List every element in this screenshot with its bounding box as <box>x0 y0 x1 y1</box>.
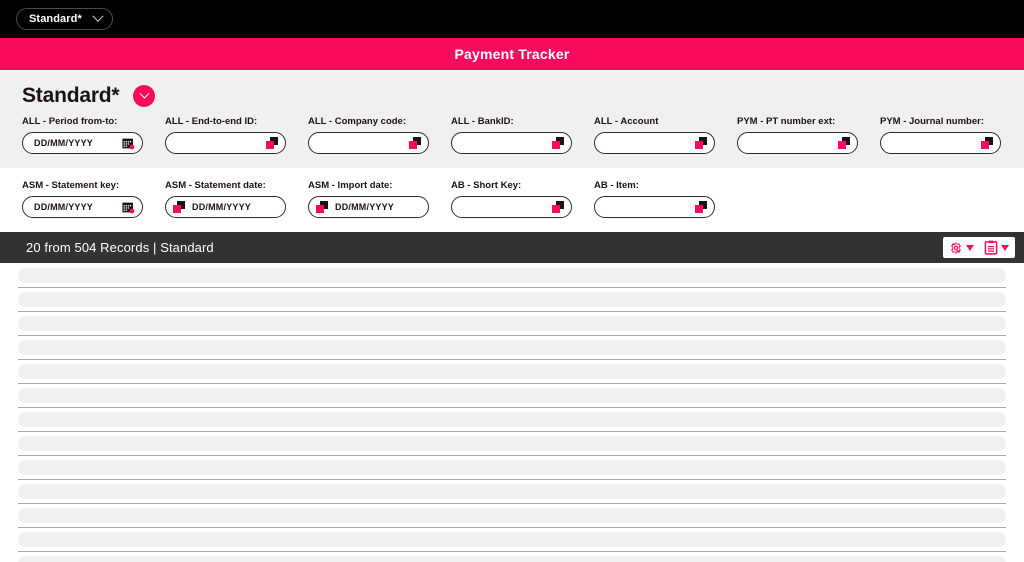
field-input-ab-item[interactable] <box>594 196 715 218</box>
field-label: AB - Item: <box>594 180 737 191</box>
filter-field-pym-journal-number: PYM - Journal number: <box>880 116 1023 154</box>
field-input-asm-import-date[interactable]: DD/MM/YYYY <box>308 196 429 218</box>
field-label: PYM - Journal number: <box>880 116 1023 127</box>
table-row-separator <box>18 503 1006 504</box>
table-row-placeholder <box>18 340 1006 355</box>
value-help-icon[interactable] <box>409 137 421 149</box>
filter-row: ASM - Statement key:DD/MM/YYYYASM - Stat… <box>0 168 1024 232</box>
filter-rows: ALL - Period from-to:DD/MM/YYYYALL - End… <box>0 114 1024 232</box>
value-help-icon[interactable] <box>173 201 185 213</box>
table-row-placeholder <box>18 508 1006 523</box>
filter-field-pym-pt-number-ext: PYM - PT number ext: <box>737 116 880 154</box>
results-table-rows <box>0 268 1024 562</box>
field-input-all-period-from-to[interactable]: DD/MM/YYYY <box>22 132 143 154</box>
table-row[interactable] <box>0 388 1024 403</box>
table-row[interactable] <box>0 460 1024 475</box>
field-input-pym-pt-number-ext[interactable] <box>737 132 858 154</box>
table-row-separator <box>18 431 1006 432</box>
value-help-icon[interactable] <box>695 137 707 149</box>
settings-button[interactable] <box>947 240 976 256</box>
table-row-separator <box>18 311 1006 312</box>
field-input-all-company-code[interactable] <box>308 132 429 154</box>
table-row[interactable] <box>0 508 1024 523</box>
table-row[interactable] <box>0 532 1024 547</box>
filter-panel-header: Standard* <box>0 70 1024 114</box>
value-help-icon[interactable] <box>695 201 707 213</box>
filter-field-all-bankid: ALL - BankID: <box>451 116 594 154</box>
field-label: ALL - Period from-to: <box>22 116 165 127</box>
field-label: ASM - Statement key: <box>22 180 165 191</box>
filter-field-all-account: ALL - Account <box>594 116 737 154</box>
table-row[interactable] <box>0 292 1024 307</box>
field-label: ASM - Statement date: <box>165 180 308 191</box>
table-row[interactable] <box>0 436 1024 451</box>
chevron-down-icon <box>966 245 974 251</box>
field-input-asm-statement-key[interactable]: DD/MM/YYYY <box>22 196 143 218</box>
field-value: DD/MM/YYYY <box>335 202 420 212</box>
field-value: DD/MM/YYYY <box>192 202 277 212</box>
value-help-icon[interactable] <box>981 137 993 149</box>
filter-expand-button[interactable] <box>133 85 155 107</box>
table-row-separator <box>18 407 1006 408</box>
page-title: Payment Tracker <box>454 46 569 62</box>
field-input-ab-short-key[interactable] <box>451 196 572 218</box>
table-row-placeholder <box>18 460 1006 475</box>
field-label: AB - Short Key: <box>451 180 594 191</box>
table-row-placeholder <box>18 364 1006 379</box>
table-row-separator <box>18 479 1006 480</box>
filter-field-asm-statement-date: ASM - Statement date:DD/MM/YYYY <box>165 180 308 218</box>
filter-field-ab-short-key: AB - Short Key: <box>451 180 594 218</box>
chevron-down-icon <box>92 11 103 22</box>
table-row-separator <box>18 335 1006 336</box>
table-row[interactable] <box>0 316 1024 331</box>
filter-field-all-period-from-to: ALL - Period from-to:DD/MM/YYYY <box>22 116 165 154</box>
filter-row: ALL - Period from-to:DD/MM/YYYYALL - End… <box>0 114 1024 168</box>
field-label: ASM - Import date: <box>308 180 451 191</box>
table-row-placeholder <box>18 532 1006 547</box>
table-row-separator <box>18 383 1006 384</box>
variant-button[interactable] <box>982 239 1011 256</box>
results-table <box>0 263 1024 562</box>
calendar-icon[interactable] <box>122 201 135 214</box>
top-bar: Standard* <box>0 0 1024 38</box>
field-label: ALL - Account <box>594 116 737 127</box>
table-row[interactable] <box>0 484 1024 499</box>
variant-selector-label: Standard* <box>29 13 82 25</box>
field-input-pym-journal-number[interactable] <box>880 132 1001 154</box>
filter-field-asm-statement-key: ASM - Statement key:DD/MM/YYYY <box>22 180 165 218</box>
value-help-icon[interactable] <box>838 137 850 149</box>
field-label: PYM - PT number ext: <box>737 116 880 127</box>
value-help-icon[interactable] <box>316 201 328 213</box>
results-toolbar-actions <box>943 237 1015 258</box>
variant-selector[interactable]: Standard* <box>16 8 113 30</box>
filter-panel-title: Standard* <box>22 84 119 108</box>
chevron-down-icon <box>139 88 149 98</box>
field-input-all-bankid[interactable] <box>451 132 572 154</box>
table-row-separator <box>18 551 1006 552</box>
record-count-label: 20 from 504 Records | Standard <box>26 240 214 255</box>
field-value: DD/MM/YYYY <box>34 202 122 212</box>
filter-field-asm-import-date: ASM - Import date:DD/MM/YYYY <box>308 180 451 218</box>
table-row[interactable] <box>0 412 1024 427</box>
table-row-placeholder <box>18 388 1006 403</box>
filter-field-all-company-code: ALL - Company code: <box>308 116 451 154</box>
field-value: DD/MM/YYYY <box>34 138 122 148</box>
field-input-all-end-to-end-id[interactable] <box>165 132 286 154</box>
field-label: ALL - End-to-end ID: <box>165 116 308 127</box>
table-row-placeholder <box>18 412 1006 427</box>
field-input-all-account[interactable] <box>594 132 715 154</box>
table-row-placeholder <box>18 292 1006 307</box>
table-row[interactable] <box>0 364 1024 379</box>
table-row-placeholder <box>18 556 1006 562</box>
table-row-separator <box>18 527 1006 528</box>
filter-panel: Standard* ALL - Period from-to:DD/MM/YYY… <box>0 70 1024 232</box>
clipboard-icon <box>984 240 998 255</box>
calendar-icon[interactable] <box>122 137 135 150</box>
table-row[interactable] <box>0 268 1024 283</box>
app-header: Payment Tracker <box>0 38 1024 70</box>
filter-field-ab-item: AB - Item: <box>594 180 737 218</box>
value-help-icon[interactable] <box>552 137 564 149</box>
table-row-placeholder <box>18 484 1006 499</box>
value-help-icon[interactable] <box>266 137 278 149</box>
gear-icon <box>949 241 963 255</box>
table-row-separator <box>18 455 1006 456</box>
results-toolbar: 20 from 504 Records | Standard <box>0 232 1024 263</box>
table-row-placeholder <box>18 316 1006 331</box>
field-label: ALL - Company code: <box>308 116 451 127</box>
table-row-separator <box>18 359 1006 360</box>
table-row-placeholder <box>18 436 1006 451</box>
filter-field-all-end-to-end-id: ALL - End-to-end ID: <box>165 116 308 154</box>
table-row[interactable] <box>0 556 1024 562</box>
table-row-placeholder <box>18 268 1006 283</box>
chevron-down-icon <box>1001 245 1009 251</box>
field-input-asm-statement-date[interactable]: DD/MM/YYYY <box>165 196 286 218</box>
value-help-icon[interactable] <box>552 201 564 213</box>
table-row-separator <box>18 287 1006 288</box>
table-row[interactable] <box>0 340 1024 355</box>
field-label: ALL - BankID: <box>451 116 594 127</box>
